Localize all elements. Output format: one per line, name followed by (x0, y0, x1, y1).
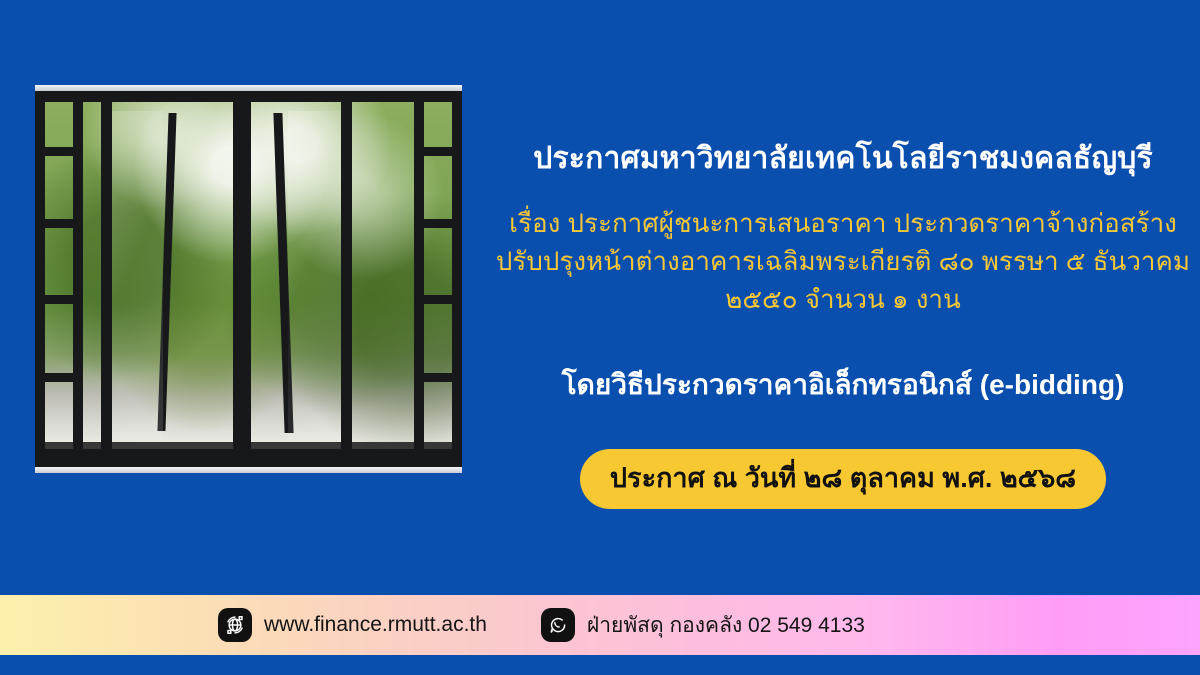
right-door-stile (341, 101, 352, 449)
footer-website[interactable]: www.finance.rmutt.ac.th (218, 608, 487, 642)
sidelight-right-rail-2 (414, 219, 462, 228)
contact-footer: www.finance.rmutt.ac.th ฝ่ายพัสดุ กองคลั… (0, 595, 1200, 655)
sidelight-left-rail-4 (35, 373, 83, 382)
globe-icon (218, 608, 252, 642)
sidelight-left-rail-3 (35, 295, 83, 304)
date-badge-container: ประกาศ ณ วันที่ ๒๘ ตุลาคม พ.ศ. ๒๕๖๘ (486, 449, 1200, 509)
department-phone: ฝ่ายพัสดุ กองคลัง 02 549 4133 (587, 609, 865, 642)
left-door-glass (112, 111, 163, 441)
right-door-edge (273, 113, 293, 433)
subject-line-2: ปรับปรุงหน้าต่างอาคารเฉลิมพระเกียรติ ๘๐ … (486, 242, 1200, 280)
sidelight-right-rail-4 (414, 373, 462, 382)
website-url: www.finance.rmutt.ac.th (264, 613, 487, 637)
photo-image (35, 91, 462, 467)
right-door-glass (288, 111, 341, 441)
bidding-method: โดยวิธีประกวดราคาอิเล็กทรอนิกส์ (e-biddi… (486, 363, 1200, 407)
threshold-bar (45, 442, 452, 449)
subject-block: เรื่อง ประกาศผู้ชนะการเสนอราคา ประกวดราค… (486, 204, 1200, 319)
subject-line-1: เรื่อง ประกาศผู้ชนะการเสนอราคา ประกวดราค… (486, 204, 1200, 242)
sidelight-right-rail-3 (414, 295, 462, 304)
whatsapp-phone-icon (541, 608, 575, 642)
page-title: ประกาศมหาวิทยาลัยเทคโนโลยีราชมงคลธัญบุรี (486, 140, 1200, 178)
sidelight-left-rail-2 (35, 219, 83, 228)
footer-phone[interactable]: ฝ่ายพัสดุ กองคลัง 02 549 4133 (541, 608, 865, 642)
window-photo (35, 85, 462, 473)
announcement-poster: ประกาศมหาวิทยาลัยเทคโนโลยีราชมงคลธัญบุรี… (0, 0, 1200, 675)
sidelight-right-rail-1 (414, 147, 462, 156)
announcement-date-badge: ประกาศ ณ วันที่ ๒๘ ตุลาคม พ.ศ. ๒๕๖๘ (580, 449, 1106, 509)
subject-line-3: ๒๕๕๐ จำนวน ๑ งาน (486, 280, 1200, 318)
centre-post (233, 91, 251, 467)
left-door-edge (157, 113, 176, 431)
photo-bottom-edge (35, 467, 462, 473)
announcement-content: ประกาศมหาวิทยาลัยเทคโนโลยีราชมงคลธัญบุรี… (486, 140, 1200, 509)
left-door-stile (101, 101, 112, 449)
sidelight-left-rail-1 (35, 147, 83, 156)
